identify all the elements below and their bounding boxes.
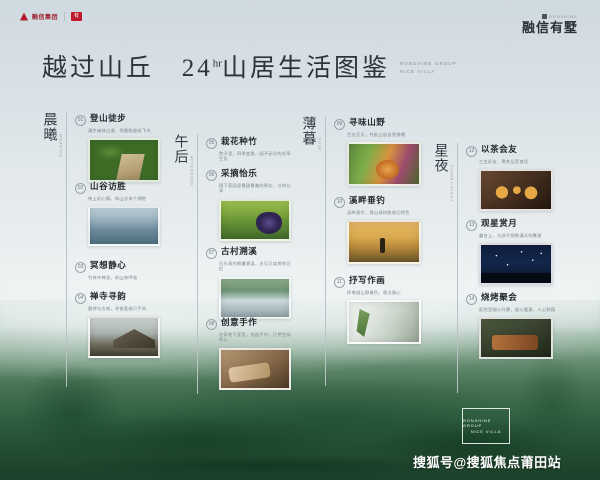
schedule-columns: 晨曦 MORNING 01 登山徒步 漫步森林山道，把晨跑留给飞鸟 02 山谷访… (0, 0, 600, 480)
item-body: 露台上，与孩子细数漫天的繁星 (479, 233, 558, 285)
column-rule-3 (325, 116, 326, 386)
item-photo (479, 317, 553, 359)
column-title-en: DUSK (318, 138, 322, 152)
item-description: 漫步森林山道，把晨跑留给飞鸟 (88, 128, 160, 133)
item-head: 14 烧烤聚会 (466, 293, 558, 305)
column-rule-1 (66, 112, 67, 387)
item-description: 院子里，四季变换，园子无尽的花草生长 (219, 151, 294, 162)
item-title: 寻味山野 (349, 118, 385, 127)
item-photo (88, 138, 160, 182)
activity-item[interactable]: 10 溪畔垂钓 溪畔垂竿，青山绿树能渐归得色 (334, 196, 424, 264)
item-photo (219, 348, 291, 390)
column-header-dusk: 薄暮 DUSK (299, 116, 322, 152)
watermark: 搜狐号@搜狐焦点莆田站 (413, 452, 561, 471)
item-description: 竹林中禅坐，听山林呼吸 (88, 275, 160, 280)
activity-item[interactable]: 06 采摘怡乐 摘下家园里最甜最美的果实，与你分享 (206, 169, 294, 241)
item-head: 06 采摘怡乐 (206, 169, 294, 181)
item-title: 溪畔垂钓 (349, 196, 385, 205)
item-description: 晨钟与古刹，寻香盈袖只手间 (88, 306, 160, 311)
item-body: 庭院里烟火升腾，烟火暖意，人心慰藉 (479, 307, 558, 359)
item-title: 以茶会友 (481, 145, 517, 154)
item-head: 01 登山徒步 (75, 114, 160, 126)
item-description: 挥笔描山野春色，落点雅心 (347, 290, 424, 295)
activity-item[interactable]: 09 寻味山野 舌尖至见，共赴山居自然馈赠 (334, 118, 424, 186)
item-number-badge: 02 (75, 183, 86, 194)
item-body: 晨钟与古刹，寻香盈袖只手间 (88, 306, 160, 358)
item-body: 舌尖至见，共赴山居自然馈赠 (347, 132, 424, 186)
item-body: 挥笔描山野春色，落点雅心 (347, 290, 424, 344)
item-number-badge: 03 (75, 262, 86, 273)
item-number-badge: 12 (466, 146, 477, 157)
activity-item[interactable]: 14 烧烤聚会 庭院里烟火升腾，烟火暖意，人心慰藉 (466, 293, 558, 359)
item-title: 观星赏月 (481, 219, 517, 228)
item-photo (88, 316, 160, 358)
footer-logo-line-1: RONSHINE GROUP (463, 418, 509, 428)
activity-item[interactable]: 05 栽花种竹 院子里，四季变换，园子无尽的花草生长 (206, 137, 294, 162)
item-number-badge: 13 (466, 220, 477, 231)
item-head: 04 禅寺寻韵 (75, 292, 160, 304)
item-description: 舌尖至见，共赴山居自然馈赠 (347, 132, 424, 137)
column-header-afternoon: 午后 AFTERNOON (171, 134, 194, 187)
activity-item[interactable]: 02 山谷访胜 带上好心情，和山谷来个拥抱 (75, 182, 160, 246)
item-photo (88, 206, 160, 246)
item-description: 庭院里烟火升腾，烟火暖意，人心慰藉 (479, 307, 558, 312)
item-photo (479, 169, 553, 211)
item-description: 露台上，与孩子细数漫天的繁星 (479, 233, 558, 238)
item-description: 溪畔垂竿，青山绿树能渐归得色 (347, 210, 424, 215)
item-body: 石头涧村解暑溯溪，古见又烧烤的记忆 (219, 261, 294, 319)
activity-item[interactable]: 07 古村溯溪 石头涧村解暑溯溪，古见又烧烤的记忆 (206, 247, 294, 319)
item-body: 带上好心情，和山谷来个拥抱 (88, 196, 160, 246)
item-body: 漫步森林山道，把晨跑留给飞鸟 (88, 128, 160, 182)
column-rule-2 (197, 134, 198, 394)
activity-item[interactable]: 11 抒写作画 挥笔描山野春色，落点雅心 (334, 276, 424, 344)
item-body: 竹林中禅坐，听山林呼吸 (88, 275, 160, 280)
item-head: 10 溪畔垂钓 (334, 196, 424, 208)
item-number-badge: 14 (466, 294, 477, 305)
item-title: 登山徒步 (90, 114, 126, 123)
activity-item[interactable]: 13 观星赏月 露台上，与孩子细数漫天的繁星 (466, 219, 558, 285)
item-photo (347, 300, 421, 344)
item-number-badge: 06 (206, 170, 217, 181)
item-number-badge: 11 (334, 277, 345, 288)
item-head: 08 创意手作 (206, 318, 294, 330)
column-title-en: STARRY NIGHT (450, 165, 454, 202)
item-body: 三五好友，煮茶品茗夜话 (479, 159, 558, 211)
item-head: 07 古村溯溪 (206, 247, 294, 259)
item-number-badge: 05 (206, 138, 217, 149)
footer-logo-line-2: NICE VILLA (471, 429, 502, 434)
item-body: 院子里，四季变换，园子无尽的花草生长 (219, 151, 294, 162)
item-number-badge: 08 (206, 319, 217, 330)
item-title: 抒写作画 (349, 276, 385, 285)
activity-item[interactable]: 01 登山徒步 漫步森林山道，把晨跑留给飞鸟 (75, 114, 160, 182)
column-title-en: MORNING (59, 134, 63, 158)
item-photo (219, 199, 291, 241)
item-body: 溪畔垂竿，青山绿树能渐归得色 (347, 210, 424, 264)
item-title: 烧烤聚会 (481, 293, 517, 302)
item-description: 石头涧村解暑溯溪，古见又烧烤的记忆 (219, 261, 294, 272)
item-title: 禅寺寻韵 (90, 292, 126, 301)
footer-logo: RONSHINE GROUP NICE VILLA (462, 408, 510, 444)
column-header-morning: 晨曦 MORNING (40, 112, 63, 158)
activity-item[interactable]: 12 以茶会友 三五好友，煮茶品茗夜话 (466, 145, 558, 211)
item-number-badge: 10 (334, 197, 345, 208)
item-head: 03 冥想静心 (75, 261, 160, 273)
column-title-cn: 晨曦 (40, 112, 57, 142)
item-photo (219, 277, 291, 319)
item-body: 摘下家园里最甜最美的果实，与你分享 (219, 183, 294, 241)
item-number-badge: 04 (75, 293, 86, 304)
item-body: 在家地下室里，捡起手作，打捞空闲的心 (219, 332, 294, 390)
item-photo (479, 243, 553, 285)
activity-item[interactable]: 08 创意手作 在家地下室里，捡起手作，打捞空闲的心 (206, 318, 294, 390)
item-title: 创意手作 (221, 318, 257, 327)
item-head: 02 山谷访胜 (75, 182, 160, 194)
item-description: 带上好心情，和山谷来个拥抱 (88, 196, 160, 201)
item-description: 在家地下室里，捡起手作，打捞空闲的心 (219, 332, 294, 343)
item-number-badge: 07 (206, 248, 217, 259)
item-title: 山谷访胜 (90, 182, 126, 191)
activity-item[interactable]: 04 禅寺寻韵 晨钟与古刹，寻香盈袖只手间 (75, 292, 160, 358)
item-number-badge: 09 (334, 119, 345, 130)
item-description: 三五好友，煮茶品茗夜话 (479, 159, 558, 164)
item-title: 栽花种竹 (221, 137, 257, 146)
item-head: 13 观星赏月 (466, 219, 558, 231)
item-title: 古村溯溪 (221, 247, 257, 256)
column-rule-4 (457, 143, 458, 393)
item-head: 05 栽花种竹 (206, 137, 294, 149)
item-head: 12 以茶会友 (466, 145, 558, 157)
column-title-en: AFTERNOON (190, 156, 194, 187)
item-photo (347, 142, 421, 186)
item-title: 采摘怡乐 (221, 169, 257, 178)
item-number-badge: 01 (75, 115, 86, 126)
poster-canvas: 融信集团 有 RONSHINE 融信有墅 越过山丘 24hr山居生活图鉴 RON… (0, 0, 600, 480)
item-head: 11 抒写作画 (334, 276, 424, 288)
activity-item[interactable]: 03 冥想静心 竹林中禅坐，听山林呼吸 (75, 261, 160, 280)
item-description: 摘下家园里最甜最美的果实，与你分享 (219, 183, 294, 194)
column-title-cn: 薄暮 (299, 116, 316, 146)
item-photo (347, 220, 421, 264)
item-head: 09 寻味山野 (334, 118, 424, 130)
item-title: 冥想静心 (90, 261, 126, 270)
column-title-cn: 星夜 (431, 143, 448, 173)
column-header-starry-night: 星夜 STARRY NIGHT (431, 143, 454, 202)
column-title-cn: 午后 (171, 134, 188, 164)
